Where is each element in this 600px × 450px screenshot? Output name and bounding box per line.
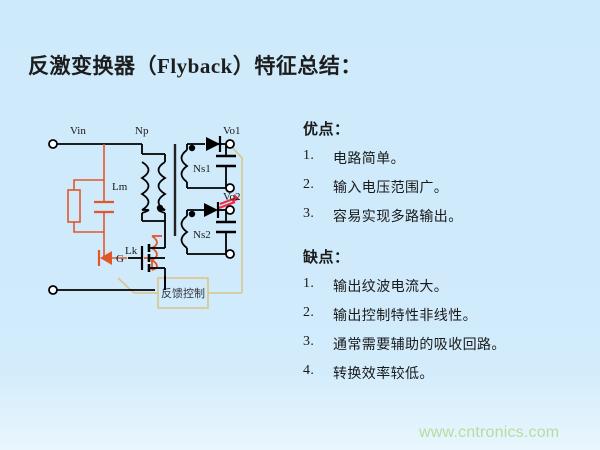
feedback-control-label: 反馈控制: [161, 286, 205, 300]
list-item-number: 2.: [303, 305, 333, 321]
list-item-text: 电路简单。: [333, 148, 593, 168]
lk-leakage-inductor: [144, 236, 162, 270]
list-item: 2. 输入电压范围广。: [303, 177, 593, 197]
list-item-number: 1.: [303, 148, 333, 164]
ns1-polarity-dot: [189, 145, 195, 151]
snubber-resistor: [68, 190, 80, 222]
list-item: 4. 转换效率较低。: [303, 363, 593, 383]
list-item: 3. 通常需要辅助的吸收回路。: [303, 334, 593, 354]
list-item-number: 1.: [303, 276, 333, 292]
site-watermark: www.cntronics.com: [419, 424, 559, 442]
np-label: Np: [135, 125, 149, 137]
cons-block: 缺点： 1. 输出纹波电流大。 2. 输出控制特性非线性。 3. 通常需要辅助的…: [303, 246, 593, 383]
ns2-winding: [182, 216, 188, 248]
cons-heading: 缺点：: [303, 246, 593, 267]
ns1-winding: [182, 150, 188, 182]
list-item-text: 输出纹波电流大。: [333, 276, 593, 296]
list-item-number: 2.: [303, 177, 333, 193]
list-item: 1. 输出纹波电流大。: [303, 276, 593, 296]
list-item-number: 3.: [303, 206, 333, 222]
list-item: 2. 输出控制特性非线性。: [303, 305, 593, 325]
list-item: 3. 容易实现多路输出。: [303, 206, 593, 226]
list-item-text: 输入电压范围广。: [333, 177, 593, 197]
ns2-rectifier-diode: [204, 202, 218, 218]
flyback-circuit-diagram: 反馈控制: [30, 118, 310, 333]
pros-block: 优点： 1. 电路简单。 2. 输入电压范围广。 3. 容易实现多路输出。: [303, 118, 593, 226]
ns2-polarity-dot: [189, 211, 195, 217]
clamp-diode: [99, 250, 112, 266]
feature-summary-text: 优点： 1. 电路简单。 2. 输入电压范围广。 3. 容易实现多路输出。 缺点…: [303, 118, 593, 392]
page-title-prefix: 反激变换器（: [28, 54, 157, 78]
vo1-output-capacitor: [216, 156, 236, 166]
ns2-label: Ns2: [193, 229, 211, 241]
page-title-latin: Flyback: [157, 54, 233, 78]
page-title-suffix: ）特征总结：: [233, 54, 362, 78]
vin-label: Vin: [70, 125, 86, 137]
page-title: 反激变换器（Flyback）特征总结：: [28, 50, 362, 80]
snubber-capacitor: [94, 202, 114, 212]
gate-label: G: [116, 253, 124, 265]
list-item-number: 3.: [303, 334, 333, 350]
list-item-text: 通常需要辅助的吸收回路。: [333, 334, 593, 354]
vo1-label: Vo1: [223, 125, 241, 137]
ns1-label: Ns1: [193, 163, 211, 175]
vo1-positive-terminal: [226, 140, 234, 148]
cons-list: 1. 输出纹波电流大。 2. 输出控制特性非线性。 3. 通常需要辅助的吸收回路…: [303, 276, 593, 383]
vo2-output-capacitor: [216, 222, 236, 232]
pros-list: 1. 电路简单。 2. 输入电压范围广。 3. 容易实现多路输出。: [303, 148, 593, 226]
vo2-negative-terminal: [226, 250, 234, 258]
pros-heading: 优点：: [303, 118, 593, 139]
list-item-number: 4.: [303, 363, 333, 379]
np-polarity-dot: [157, 205, 163, 211]
list-item-text: 容易实现多路输出。: [333, 206, 593, 226]
lm-label: Lm: [112, 181, 128, 193]
vin-terminal: [49, 140, 57, 148]
ground-terminal: [49, 286, 57, 294]
ns1-rectifier-diode: [206, 136, 220, 152]
lk-label: Lk: [125, 245, 138, 257]
list-item-text: 转换效率较低。: [333, 363, 593, 383]
list-item: 1. 电路简单。: [303, 148, 593, 168]
list-item-text: 输出控制特性非线性。: [333, 305, 593, 325]
slide-canvas: 反激变换器（Flyback）特征总结： 反馈控制: [0, 0, 600, 450]
vo2-positive-terminal: [226, 206, 234, 214]
vo2-label: Vo2: [223, 191, 241, 203]
